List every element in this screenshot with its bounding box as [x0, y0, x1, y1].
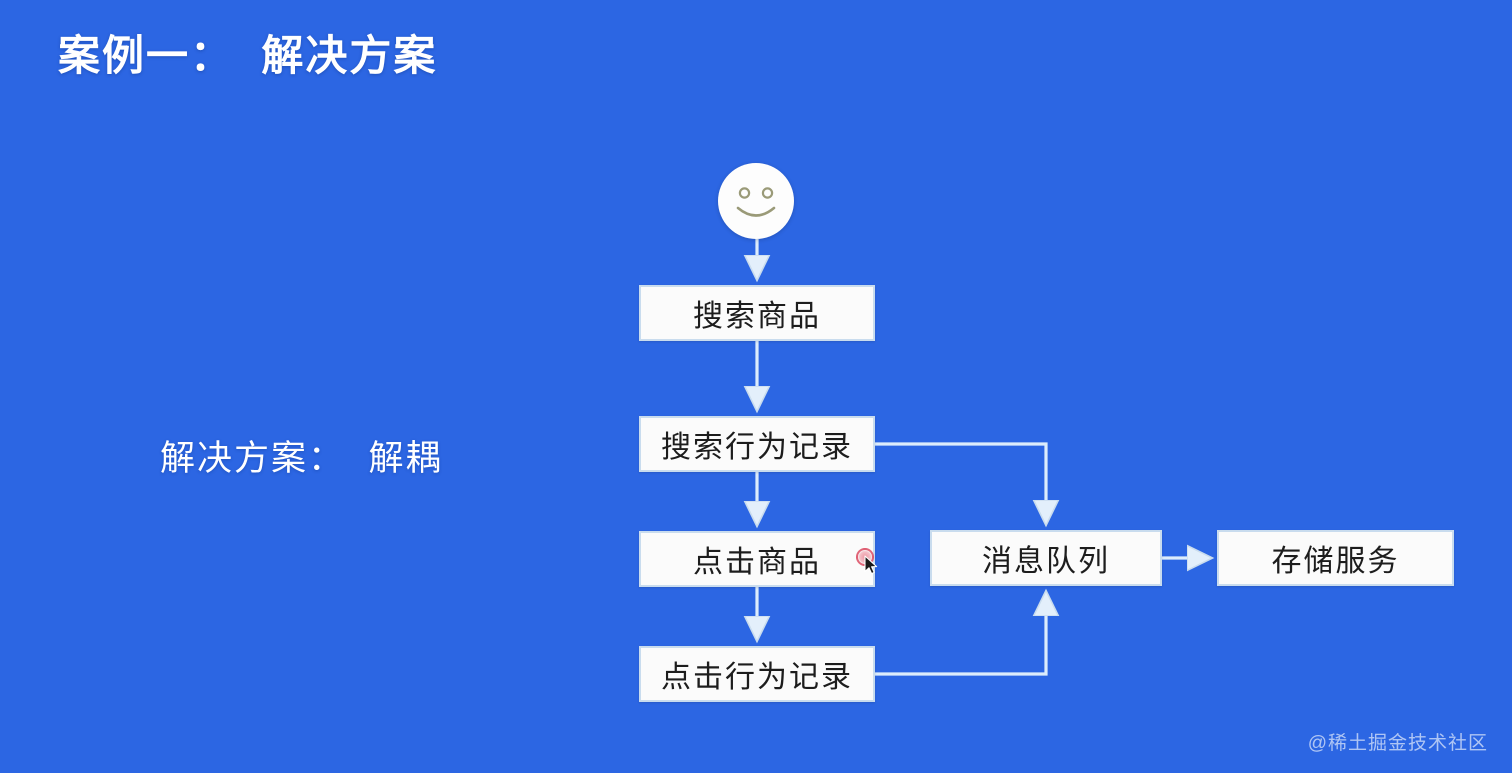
- watermark: @稀土掘金技术社区: [1308, 728, 1488, 755]
- flow-node-click-product[interactable]: 点击商品: [639, 531, 875, 587]
- mouse-cursor: [856, 548, 886, 580]
- flow-node-search-log[interactable]: 搜索行为记录: [639, 416, 875, 472]
- flow-node-storage-service[interactable]: 存储服务: [1217, 530, 1454, 586]
- smiley-face-icon: [718, 163, 794, 239]
- flow-node-message-queue[interactable]: 消息队列: [930, 530, 1162, 586]
- cursor-arrow-icon: [864, 555, 880, 582]
- flow-node-click-log[interactable]: 点击行为记录: [639, 646, 875, 702]
- flow-diagram: 搜索商品 搜索行为记录 点击商品 点击行为记录 消息队列 存储服务: [0, 0, 1512, 773]
- slide-canvas: 案例一： 解决方案 解决方案： 解耦: [0, 0, 1512, 773]
- flow-node-search-product[interactable]: 搜索商品: [639, 285, 875, 341]
